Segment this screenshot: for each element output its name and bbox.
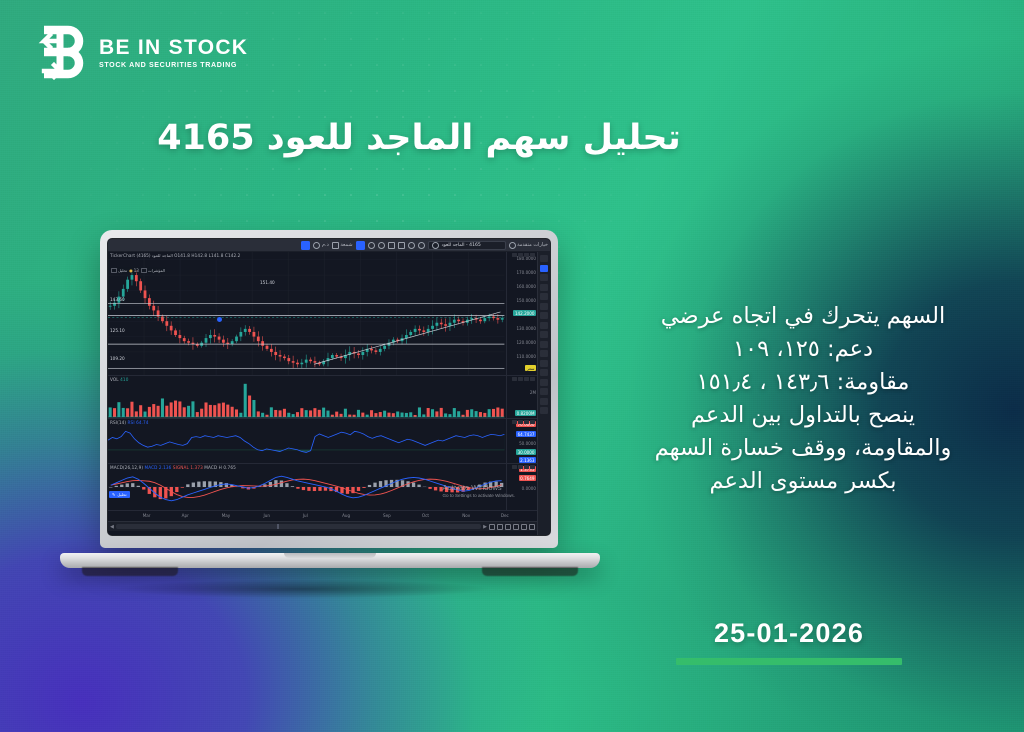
axis-tick: 150.0000 xyxy=(516,298,536,303)
settings-icon xyxy=(509,242,516,249)
toolbar-label: شمعة xyxy=(340,242,352,248)
toolbar-item-advanced[interactable]: خيارات متقدمة xyxy=(509,242,548,249)
pattern-icon[interactable] xyxy=(540,322,548,329)
price-axis[interactable]: 180.0000 170.0000 160.0000 150.0000 142.… xyxy=(506,252,537,375)
trading-app: د.م شمعة 4165 xyxy=(108,239,550,535)
trendline-icon[interactable] xyxy=(540,274,548,281)
compare-icon[interactable] xyxy=(540,369,548,376)
toolbar-label: د.م xyxy=(322,242,329,248)
eye-icon[interactable] xyxy=(512,377,517,381)
axis-tick: 160.0000 xyxy=(516,284,536,289)
minimize-icon[interactable] xyxy=(524,465,529,469)
volume-chart-canvas xyxy=(108,376,537,418)
page-title: تحليل سهم الماجد للعود 4165 xyxy=(0,118,838,158)
magnet-icon[interactable] xyxy=(540,379,548,386)
analysis-tool-button[interactable]: ✎ تحليل xyxy=(109,491,130,498)
macd-legend-label: MACD(26,12,9) xyxy=(110,465,143,470)
eye-icon[interactable] xyxy=(512,465,517,469)
time-tick: Aug xyxy=(342,513,350,518)
draw-tool-analysis[interactable]: تحليل xyxy=(111,268,127,273)
macd-pane[interactable]: MACD(26,12,9) MACD 2.136 SIGNAL 1.373 MA… xyxy=(108,464,537,510)
log-icon[interactable] xyxy=(497,524,503,530)
time-tick: Oct xyxy=(422,513,429,518)
candle-icon xyxy=(332,242,339,249)
crosshair-icon[interactable] xyxy=(540,265,548,272)
settings-icon[interactable] xyxy=(518,377,523,381)
axis-tick: 170.0000 xyxy=(516,270,536,275)
horizontal-line-icon[interactable] xyxy=(540,284,548,291)
trash-icon[interactable] xyxy=(540,407,548,414)
rsi-extra-badge: 2.1363 xyxy=(519,457,536,463)
flag-icon[interactable] xyxy=(540,341,548,348)
layers-icon[interactable] xyxy=(540,360,548,367)
cursor-icon[interactable] xyxy=(540,255,548,262)
price-alert-badge: سعر xyxy=(525,365,536,371)
fit-icon[interactable] xyxy=(489,524,495,530)
publish-icon[interactable] xyxy=(301,241,310,250)
alert-icon[interactable] xyxy=(408,242,415,249)
analysis-line: دعم: ١٢٥، ١٠٩ xyxy=(608,333,998,366)
pencil-icon: ✎ xyxy=(112,492,115,497)
eye-icon[interactable] xyxy=(512,420,517,424)
symbol-search-input[interactable]: 4165 - الماجد للعود xyxy=(428,241,506,250)
chart-icon xyxy=(141,268,147,273)
zoom-in-icon[interactable] xyxy=(529,524,535,530)
percent-icon[interactable] xyxy=(505,524,511,530)
expand-icon[interactable]: ▶ xyxy=(483,524,487,530)
axis-tick: 130.0000 xyxy=(516,326,536,331)
windows-activation-watermark: Activate Windows Go to Settings to activ… xyxy=(442,483,515,498)
pencil-icon xyxy=(111,268,117,273)
macd-hist-badge: 0.7649 xyxy=(519,475,536,481)
laptop-foot-left xyxy=(82,567,178,576)
laptop-lid: د.م شمعة 4165 xyxy=(100,230,558,548)
lock-icon[interactable] xyxy=(540,398,548,405)
redo-icon[interactable] xyxy=(368,242,375,249)
date-text: 25-01-2026 xyxy=(624,618,954,649)
resistance-line-label: 143.60 xyxy=(110,297,125,302)
close-icon[interactable] xyxy=(530,253,535,257)
time-tick: Jul xyxy=(303,513,308,518)
text-icon[interactable] xyxy=(540,303,548,310)
shapes-icon[interactable] xyxy=(540,293,548,300)
rsi-pane-legend: RSI(14) RSI 64.74 xyxy=(110,420,149,425)
eye-icon[interactable] xyxy=(512,253,517,257)
analysis-line: والمقاومة، ووقف خسارة السهم xyxy=(608,432,998,465)
resistance-line-label: 151.40 xyxy=(260,280,275,285)
volume-pane[interactable]: VOL 410 xyxy=(108,376,537,419)
draw-tool-count[interactable]: ● 13 xyxy=(129,268,139,273)
template-icon[interactable] xyxy=(356,241,365,250)
draw-count-label: 13 xyxy=(134,268,139,273)
indicator-icon[interactable] xyxy=(398,242,405,249)
analysis-text: السهم يتحرك في اتجاه عرضي دعم: ١٢٥، ١٠٩ … xyxy=(608,300,998,498)
app-toolbar: د.م شمعة 4165 xyxy=(108,239,550,252)
price-pane-legend: TickerChart الماجد للعود (4165) O141.8 H… xyxy=(110,253,240,258)
search-icon xyxy=(432,242,439,249)
date-block: 25-01-2026 xyxy=(624,618,954,665)
date-underline-bar xyxy=(676,658,902,665)
axis-tick: 2M xyxy=(530,390,536,395)
pane-controls[interactable] xyxy=(512,377,535,381)
rsi-oversold-badge: 30.0000 xyxy=(516,449,536,455)
measure-icon[interactable] xyxy=(540,331,548,338)
fibonacci-icon[interactable] xyxy=(540,312,548,319)
draw-tool-label: المؤشرات xyxy=(148,268,165,273)
settings-icon[interactable] xyxy=(518,420,523,424)
volume-axis[interactable]: 2M 0.8200M xyxy=(506,376,537,418)
axis-tick: 0.0000 xyxy=(522,486,536,491)
chart-annotation-dot[interactable] xyxy=(217,317,222,322)
minimize-icon[interactable] xyxy=(524,420,529,424)
pane-controls[interactable] xyxy=(512,253,535,257)
magnet-icon[interactable] xyxy=(513,524,519,530)
toolbar-item-candle[interactable]: شمعة xyxy=(332,242,353,249)
eye-icon[interactable] xyxy=(540,388,548,395)
chart-drawing-toolbar[interactable]: تحليل ● 13 المؤشرات xyxy=(110,267,166,273)
laptop-foot-right xyxy=(482,567,578,576)
layout-icon[interactable] xyxy=(418,242,425,249)
rsi-legend-label: RSI(14) xyxy=(110,420,126,425)
analysis-tool-label: تحليل xyxy=(117,492,126,497)
time-tick: Apr xyxy=(182,513,189,518)
price-pane[interactable]: TickerChart الماجد للعود (4165) O141.8 H… xyxy=(108,252,537,376)
analysis-line: مقاومة: ١٤٣٫٦ ، ١٥١٫٤ xyxy=(608,366,998,399)
rsi-chart-canvas xyxy=(108,419,537,463)
axis-tick: 110.0000 xyxy=(516,354,536,359)
axis-tick: 50.0000 xyxy=(519,441,536,446)
time-tick: Jun xyxy=(264,513,270,518)
analysis-line: بكسر مستوى الدعم xyxy=(608,465,998,498)
brand-logo: BE IN STOCK STOCK AND SECURITIES TRADING xyxy=(34,24,248,80)
laptop-screen: د.م شمعة 4165 xyxy=(107,238,551,536)
rsi-axis[interactable]: 70.0000 64.7437 50.0000 30.0000 2.1363 xyxy=(506,419,537,463)
collapse-icon[interactable]: ◀ xyxy=(110,524,114,530)
macd-legend-value: MACD 2.136 xyxy=(145,465,172,470)
price-chart-canvas xyxy=(108,252,537,375)
last-price-badge: 142.2000 xyxy=(513,310,536,316)
close-icon[interactable] xyxy=(530,377,535,381)
draw-tool-label: تحليل xyxy=(118,268,127,273)
macd-signal-value: SIGNAL 1.373 xyxy=(173,465,203,470)
laptop-notch xyxy=(284,553,376,558)
compare-icon[interactable] xyxy=(388,242,395,249)
draw-tool-indicators[interactable]: المؤشرات xyxy=(141,268,165,273)
laptop-mockup: د.م شمعة 4165 xyxy=(60,230,600,590)
time-tick: Mar xyxy=(143,513,151,518)
status-bar: ◀ ▶ xyxy=(108,521,537,531)
support-line-label: 125.10 xyxy=(110,328,125,333)
close-icon[interactable] xyxy=(530,420,535,424)
rsi-value-badge: 64.7437 xyxy=(516,431,536,437)
macd-pane-legend: MACD(26,12,9) MACD 2.136 SIGNAL 1.373 MA… xyxy=(110,465,236,470)
rsi-legend-value: RSI 64.74 xyxy=(128,420,149,425)
volume-pane-legend: VOL 410 xyxy=(110,377,128,382)
time-tick: Sep xyxy=(383,513,391,518)
brand-name: BE IN STOCK xyxy=(99,37,248,58)
time-tick: Dec xyxy=(501,513,509,518)
rsi-pane[interactable]: RSI(14) RSI 64.74 xyxy=(108,419,537,464)
toolbar-label: خيارات متقدمة xyxy=(517,242,548,248)
analysis-line: ينصح بالتداول بين الدعم xyxy=(608,399,998,432)
pane-controls[interactable] xyxy=(512,420,535,424)
support-line-label: 109.20 xyxy=(110,356,125,361)
bell-icon: ● xyxy=(129,268,133,273)
right-tool-rail[interactable] xyxy=(537,252,550,535)
settings-icon[interactable] xyxy=(518,253,523,257)
time-tick: May xyxy=(222,513,230,518)
time-axis[interactable]: Mar Apr May Jun Jul Aug Sep Oct Nov Dec xyxy=(108,510,537,521)
watermark-title: Activate Windows xyxy=(442,483,515,492)
horizontal-scrollbar[interactable] xyxy=(116,524,481,529)
be-in-stock-arrows-logo xyxy=(34,24,86,80)
minimize-icon[interactable] xyxy=(524,377,529,381)
pane-controls[interactable] xyxy=(512,465,535,469)
time-tick: Nov xyxy=(462,513,470,518)
list-icon[interactable] xyxy=(540,350,548,357)
volume-badge: 0.8200M xyxy=(515,410,536,416)
undo-icon[interactable] xyxy=(378,242,385,249)
axis-tick: 120.0000 xyxy=(516,340,536,345)
close-icon[interactable] xyxy=(530,465,535,469)
analysis-line: السهم يتحرك في اتجاه عرضي xyxy=(608,300,998,333)
settings-icon[interactable] xyxy=(518,465,523,469)
brand-tagline: STOCK AND SECURITIES TRADING xyxy=(99,62,248,69)
watermark-subtitle: Go to Settings to activate Windows. xyxy=(442,493,515,498)
symbol-search-value: 4165 - الماجد للعود xyxy=(442,243,481,248)
zoom-out-icon[interactable] xyxy=(521,524,527,530)
macd-hist-value: MACD H 0.765 xyxy=(204,465,236,470)
volume-legend-label: VOL xyxy=(110,377,119,382)
volume-legend-value: 410 xyxy=(120,377,128,382)
minimize-icon[interactable] xyxy=(524,253,529,257)
clock-icon xyxy=(313,242,320,249)
toolbar-item-timeframe[interactable]: د.م xyxy=(313,242,328,249)
laptop-base xyxy=(60,553,600,568)
